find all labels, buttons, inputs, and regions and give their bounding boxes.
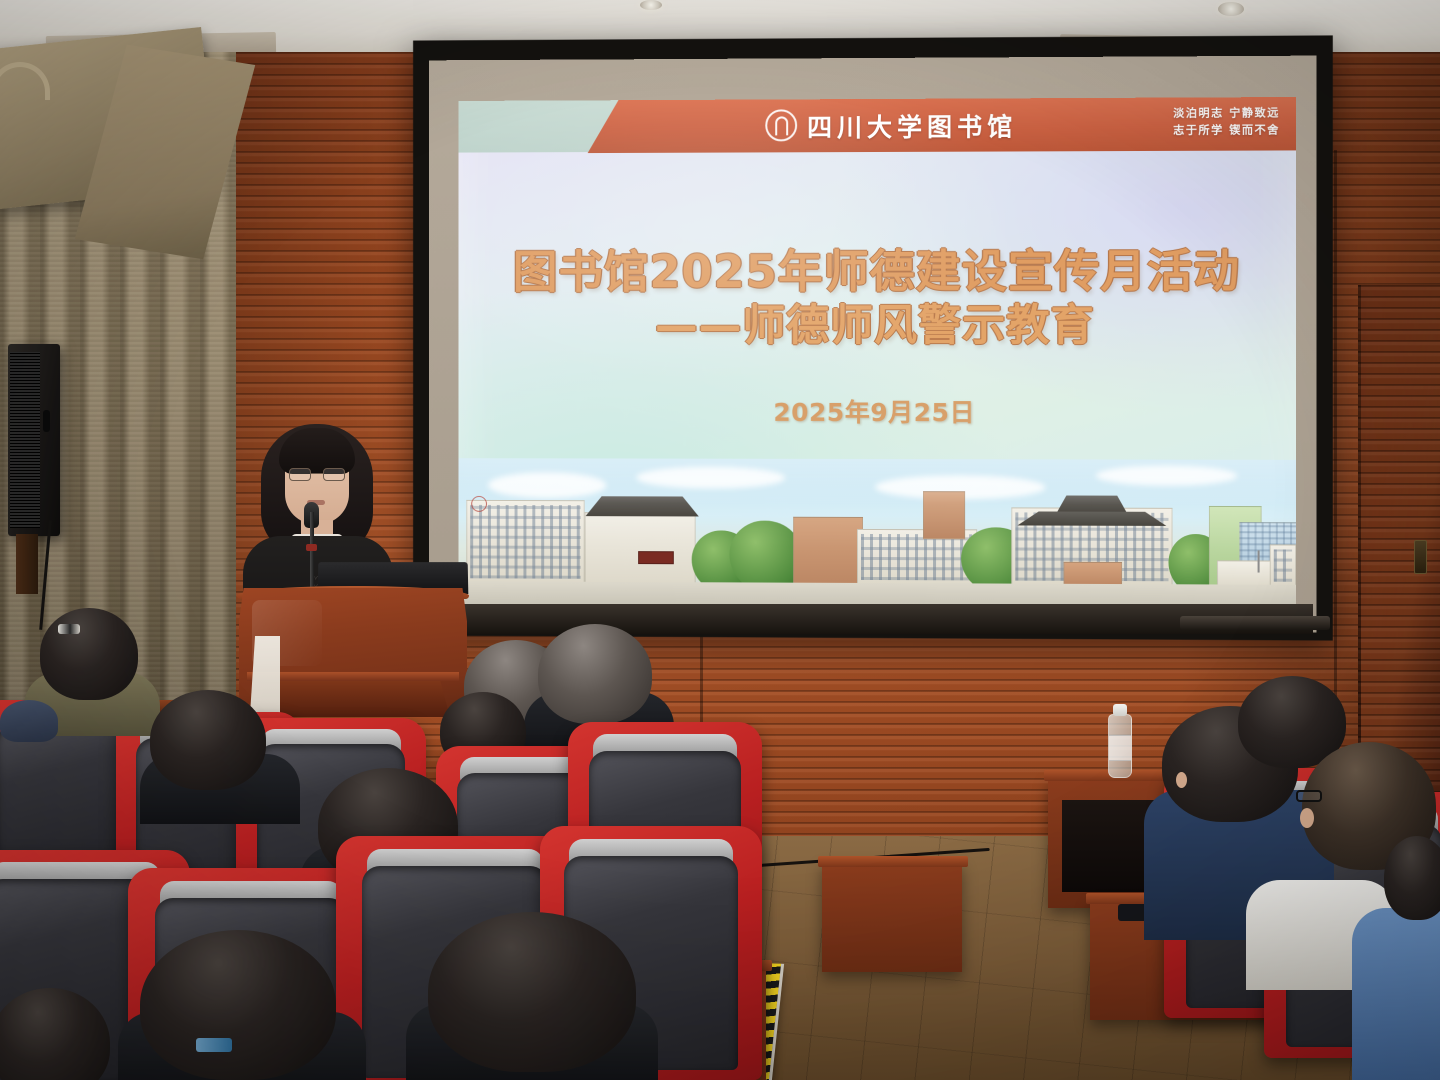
audience-ear [1300,808,1314,828]
audience-desk [822,862,962,972]
hair-tie [196,1038,232,1052]
microphone-stem [310,512,314,594]
banner-institution-name: 四川大学图书馆 [807,107,1017,144]
speaker-handle-notch [43,410,50,432]
projected-slide: 四川大学图书馆 淡泊明志 宁静致远 志于所学 锲而不舍 图书馆2025年师德建设… [458,97,1296,611]
audience-desk-top [818,856,968,867]
slide-date: 2025年9月25日 [458,393,1296,430]
slide-title-line2: ——师德师风警示教育 [458,291,1296,354]
audience-head [40,608,138,700]
audience-head [0,988,110,1080]
audience-head [538,624,652,724]
audience-head [140,930,336,1080]
banner-motto: 淡泊明志 宁静致远 志于所学 锲而不舍 [1173,104,1280,139]
campus-panorama-photo [458,458,1296,611]
microphone-collar [306,544,317,551]
ceiling-light [1218,2,1244,16]
slide-banner: 四川大学图书馆 淡泊明志 宁静致远 志于所学 锲而不舍 [458,97,1296,159]
audience-cap [0,700,58,742]
banner-motto-line1: 淡泊明志 宁静致远 [1173,104,1280,122]
scu-library-emblem-icon [765,109,797,141]
presenter-glasses-icon [289,468,345,481]
audience-head [428,912,636,1072]
audience-head [150,690,266,790]
speaker-stand [16,534,38,594]
screen-roller-housing [1180,616,1330,630]
banner-motto-line2: 志于所学 锲而不舍 [1173,121,1280,139]
lecture-hall-scene: 四川大学图书馆 淡泊明志 宁静致远 志于所学 锲而不舍 图书馆2025年师德建设… [0,0,1440,1080]
audience-head [1384,836,1440,920]
water-bottle-label [1109,735,1131,761]
eyeglasses-icon [1296,790,1322,802]
hair-clip [58,624,80,634]
speaker-grille [10,352,40,528]
audience-shoulders [1352,908,1440,1080]
ceiling-light [640,0,662,10]
campus-seal-icon [471,496,487,512]
water-bottle-cap [1113,704,1127,716]
